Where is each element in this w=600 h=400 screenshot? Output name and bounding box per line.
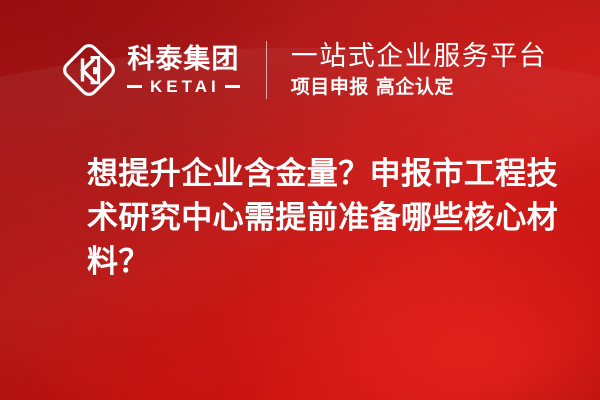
- header-divider: [266, 41, 267, 99]
- logo-company-name-cn: 科泰集团: [127, 45, 239, 75]
- promo-banner: 科泰集团 KETAI 一站式企业服务平台 项目申报 高企认定 想提升企业含金量？…: [0, 0, 600, 400]
- logo-company-name-en: KETAI: [142, 78, 225, 95]
- brand-lockup[interactable]: 科泰集团 KETAI: [60, 41, 240, 99]
- banner-headline: 想提升企业含金量？申报市工程技术研究中心需提前准备哪些核心材料？: [87, 152, 571, 284]
- logo-wordmark: 科泰集团 KETAI: [127, 45, 240, 95]
- banner-header: 科泰集团 KETAI 一站式企业服务平台 项目申报 高企认定: [0, 28, 600, 112]
- tagline-block: 一站式企业服务平台 项目申报 高企认定: [291, 41, 548, 99]
- logo-dash-right-icon: [225, 85, 240, 88]
- tagline-primary: 一站式企业服务平台: [291, 41, 548, 73]
- logo-dash-left-icon: [127, 85, 142, 88]
- logo-en-row: KETAI: [127, 78, 240, 95]
- ketai-diamond-logo-icon: [60, 41, 118, 99]
- tagline-secondary: 项目申报 高企认定: [291, 75, 548, 99]
